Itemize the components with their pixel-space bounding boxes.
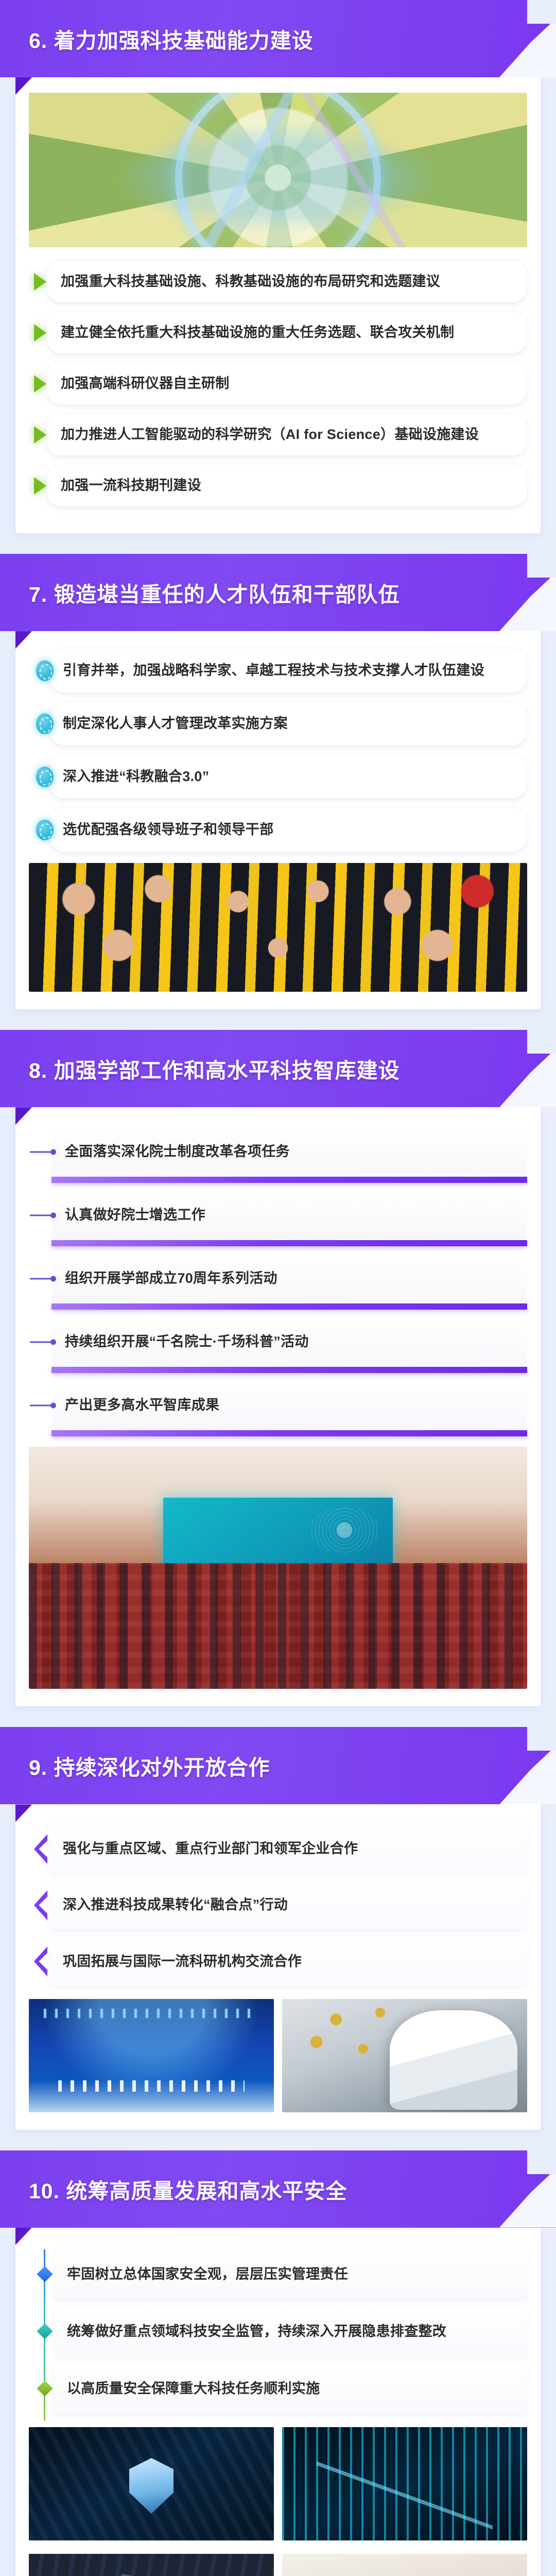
list-item[interactable]: 强化与重点区域、重点行业部门和领军企业合作: [49, 1825, 527, 1873]
section-10-images-row1: [29, 2427, 527, 2540]
section-6-list: 加强重大科技基础设施、科教基础设施的布局研究和选题建议 建立健全依托重大科技基础…: [29, 261, 527, 506]
section-6-body: 加强重大科技基础设施、科教基础设施的布局研究和选题建议 建立健全依托重大科技基础…: [15, 77, 541, 533]
diamond-bullet-icon: [38, 2381, 51, 2396]
list-item[interactable]: 认真做好院士增选工作: [51, 1190, 527, 1240]
section-7-image: [29, 863, 527, 992]
list-item-label: 产出更多高水平智库成果: [65, 1395, 219, 1416]
chevron-left-bullet-icon: [34, 1890, 47, 1920]
list-item[interactable]: 深入推进科技成果转化“融合点”行动: [49, 1881, 527, 1929]
section-10-header: 10. 统筹高质量发展和高水平安全: [0, 2150, 556, 2228]
infographic-page: 6. 着力加强科技基础能力建设 加强重大科技基础设施、科教基础设施的布局研究和选…: [0, 0, 556, 2576]
list-item-label: 选优配强各级领导班子和领导干部: [63, 819, 274, 840]
divider-bar: [51, 1367, 527, 1373]
list-item[interactable]: 深入推进“科教融合3.0”: [49, 755, 527, 799]
section-8-image: [29, 1447, 527, 1689]
list-item[interactable]: 统筹做好重点领域科技安全监管，持续深入开展隐患排查整改: [55, 2307, 527, 2357]
list-item[interactable]: 牢固树立总体国家安全观，层层压实管理责任: [55, 2249, 527, 2299]
list-item[interactable]: 建立健全依托重大科技基础设施的重大任务选题、联合攻关机制: [46, 312, 527, 353]
list-item-label: 以高质量安全保障重大科技任务顺利实施: [67, 2378, 320, 2399]
section-6-image: [29, 93, 527, 247]
diamond-bullet-icon: [38, 2324, 51, 2339]
line-dot-bullet-icon: [30, 1404, 54, 1406]
circle-bullet-icon: [36, 820, 54, 840]
diamond-bullet-icon: [38, 2266, 51, 2282]
list-item-label: 引育并举，加强战略科学家、卓越工程技术与技术支撑人才队伍建设: [63, 660, 484, 681]
section-10-list: 牢固树立总体国家安全观，层层压实管理责任 统筹做好重点领域科技安全监管，持续深入…: [29, 2249, 527, 2414]
list-item[interactable]: 引育并举，加强战略科学家、卓越工程技术与技术支撑人才队伍建设: [49, 649, 527, 692]
list-item[interactable]: 选优配强各级领导班子和领导干部: [49, 808, 527, 852]
divider-bar: [51, 1240, 527, 1246]
chevron-left-bullet-icon: [34, 1946, 47, 1976]
circle-bullet-icon: [36, 660, 54, 681]
section-10-title: 10. 统筹高质量发展和高水平安全: [29, 2174, 347, 2205]
section-8-title: 8. 加强学部工作和高水平科技智库建设: [29, 1053, 400, 1084]
divider-bar: [51, 1303, 527, 1310]
section-7-list: 引育并举，加强战略科学家、卓越工程技术与技术支撑人才队伍建设 制定深化人事人才管…: [29, 649, 527, 852]
list-item-label: 加强重大科技基础设施、科教基础设施的布局研究和选题建议: [61, 271, 440, 292]
section-8: 8. 加强学部工作和高水平科技智库建设 全面落实深化院士制度改革各项任务 认真做…: [0, 1030, 556, 1727]
chevron-left-bullet-icon: [34, 1834, 47, 1864]
section-9: 9. 持续深化对外开放合作 强化与重点区域、重点行业部门和领军企业合作 深入推进…: [0, 1727, 556, 2150]
section-9-title: 9. 持续深化对外开放合作: [29, 1750, 270, 1781]
section-10-images-row2: [29, 2554, 527, 2576]
section-8-header: 8. 加强学部工作和高水平科技智库建设: [0, 1030, 556, 1107]
section-6-header: 6. 着力加强科技基础能力建设: [0, 0, 556, 77]
list-item-label: 建立健全依托重大科技基础设施的重大任务选题、联合攻关机制: [61, 322, 454, 343]
corner-tab: [15, 1804, 32, 1822]
list-item-label: 制定深化人事人才管理改革实施方案: [63, 713, 288, 734]
section-6: 6. 着力加强科技基础能力建设 加强重大科技基础设施、科教基础设施的布局研究和选…: [0, 0, 556, 554]
corner-tab: [15, 2228, 32, 2245]
section-8-body: 全面落实深化院士制度改革各项任务 认真做好院士增选工作 组织开展学部成立70周年…: [15, 1107, 541, 1706]
banner-notch-corner: [527, 0, 556, 24]
divider-bar: [51, 1430, 527, 1436]
corner-tab: [15, 1107, 32, 1125]
corner-tab: [15, 631, 32, 649]
line-dot-bullet-icon: [30, 1278, 54, 1279]
list-item-label: 强化与重点区域、重点行业部门和领军企业合作: [63, 1838, 358, 1859]
divider-bar: [51, 1177, 527, 1183]
circle-bullet-icon: [36, 767, 54, 787]
security-shield-photo: [29, 2427, 274, 2540]
section-9-header: 9. 持续深化对外开放合作: [0, 1727, 556, 1804]
list-item[interactable]: 制定深化人事人才管理改革实施方案: [49, 702, 527, 745]
list-item[interactable]: 加强一流科技期刊建设: [46, 465, 527, 506]
cleanroom-photo: [282, 1999, 527, 2112]
triangle-bullet-icon: [34, 324, 46, 342]
line-dot-bullet-icon: [30, 1214, 54, 1216]
circle-bullet-icon: [36, 714, 54, 734]
section-7: 7. 锻造堪当重任的人才队伍和干部队伍 引育并举，加强战略科学家、卓越工程技术与…: [0, 554, 556, 1030]
list-item[interactable]: 加强重大科技基础设施、科教基础设施的布局研究和选题建议: [46, 261, 527, 302]
list-item-label: 组织开展学部成立70周年系列活动: [65, 1268, 277, 1289]
banner-notch-corner: [527, 1727, 556, 1751]
list-item-label: 统筹做好重点领域科技安全监管，持续深入开展隐患排查整改: [67, 2321, 446, 2342]
forum-photo: [29, 1999, 274, 2112]
list-item-label: 深入推进“科教融合3.0”: [63, 766, 209, 787]
list-item-label: 牢固树立总体国家安全观，层层压实管理责任: [67, 2264, 348, 2285]
conference-photo: [29, 1447, 527, 1689]
list-item[interactable]: 加强高端科研仪器自主研制: [46, 363, 527, 404]
triangle-bullet-icon: [34, 477, 46, 495]
section-10-body: 牢固树立总体国家安全观，层层压实管理责任 统筹做好重点领域科技安全监管，持续深入…: [15, 2228, 541, 2576]
audience-seats: [29, 1563, 527, 1689]
section-7-body: 引育并举，加强战略科学家、卓越工程技术与技术支撑人才队伍建设 制定深化人事人才管…: [15, 631, 541, 1009]
tech-keyboard-photo: [29, 2554, 274, 2576]
corner-tab: [15, 77, 32, 95]
list-item-label: 加力推进人工智能驱动的科学研究（AI for Science）基础设施建设: [61, 424, 479, 445]
section-9-images: [29, 1999, 527, 2112]
triangle-bullet-icon: [34, 426, 46, 444]
list-item[interactable]: 巩固拓展与国际一流科研机构交流合作: [49, 1938, 527, 1986]
graduation-photo: [29, 863, 527, 992]
line-dot-bullet-icon: [30, 1341, 54, 1343]
list-item[interactable]: 产出更多高水平智库成果: [51, 1380, 527, 1430]
list-item-label: 加强一流科技期刊建设: [61, 475, 201, 496]
section-9-list: 强化与重点区域、重点行业部门和领军企业合作 深入推进科技成果转化“融合点”行动 …: [29, 1825, 527, 1985]
section-10: 10. 统筹高质量发展和高水平安全 牢固树立总体国家安全观，层层压实管理责任 统…: [0, 2150, 556, 2576]
list-item[interactable]: 以高质量安全保障重大科技任务顺利实施: [55, 2364, 527, 2414]
line-dot-bullet-icon: [30, 1151, 54, 1153]
section-6-title: 6. 着力加强科技基础能力建设: [29, 23, 314, 54]
list-item[interactable]: 组织开展学部成立70周年系列活动: [51, 1253, 527, 1303]
section-7-title: 7. 锻造堪当重任的人才队伍和干部队伍: [29, 577, 400, 608]
laptop-desk-photo: [282, 2554, 527, 2576]
section-8-list: 全面落实深化院士制度改革各项任务 认真做好院士增选工作 组织开展学部成立70周年…: [29, 1127, 527, 1436]
list-item[interactable]: 持续组织开展“千名院士·千场科普”活动: [51, 1317, 527, 1367]
list-item-label: 巩固拓展与国际一流科研机构交流合作: [63, 1951, 302, 1972]
list-item-label: 持续组织开展“千名院士·千场科普”活动: [65, 1331, 309, 1352]
banner-notch-corner: [527, 554, 556, 578]
section-9-body: 强化与重点区域、重点行业部门和领军企业合作 深入推进科技成果转化“融合点”行动 …: [15, 1804, 541, 2129]
data-analytics-photo: [282, 2427, 527, 2540]
list-item-label: 加强高端科研仪器自主研制: [61, 373, 230, 394]
banner-notch-corner: [527, 2150, 556, 2174]
banner-notch-corner: [527, 1030, 556, 1054]
triangle-bullet-icon: [34, 375, 46, 393]
list-item[interactable]: 全面落实深化院士制度改革各项任务: [51, 1127, 527, 1177]
science-facility-photo: [29, 93, 527, 247]
list-item-label: 深入推进科技成果转化“融合点”行动: [63, 1894, 288, 1916]
triangle-bullet-icon: [34, 273, 46, 291]
list-item[interactable]: 加力推进人工智能驱动的科学研究（AI for Science）基础设施建设: [46, 414, 527, 455]
section-7-header: 7. 锻造堪当重任的人才队伍和干部队伍: [0, 554, 556, 631]
list-item-label: 全面落实深化院士制度改革各项任务: [65, 1141, 290, 1162]
list-item-label: 认真做好院士增选工作: [65, 1205, 205, 1226]
